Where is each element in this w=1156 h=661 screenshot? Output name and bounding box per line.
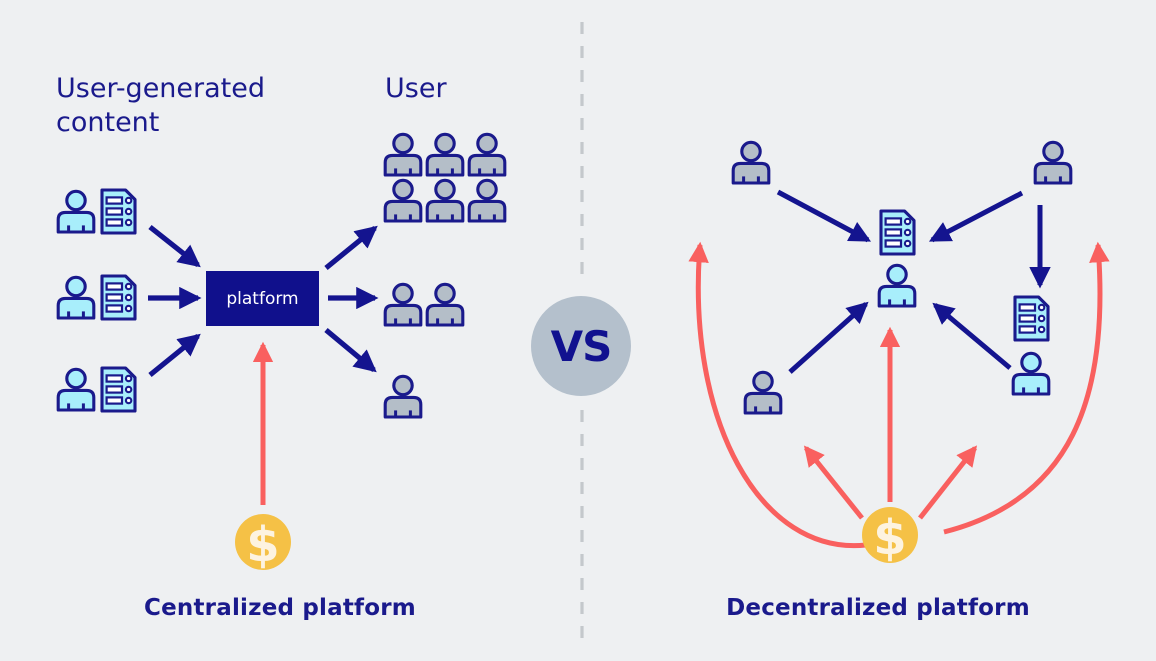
arrow-platform-to-cluster-top [326,228,375,268]
user-doc-pair-3 [58,368,135,411]
arrow-topleft-to-doc [778,192,868,240]
user-cluster-bottom [385,376,421,417]
person-icon [469,134,505,175]
person-icon [58,369,94,410]
person-icon [469,180,505,221]
platform-box[interactable]: platform [206,271,319,326]
person-icon [58,277,94,318]
person-icon [427,134,463,175]
arrow-source1-to-platform [150,227,198,265]
peer-doc-right [1015,297,1048,340]
label-centralized-platform: Centralized platform [0,595,560,621]
left-source-group [58,190,135,411]
person-icon [427,180,463,221]
document-icon [102,276,135,319]
person-icon [385,284,421,325]
peer-doc-center [881,211,914,254]
person-icon [427,284,463,325]
arrow-topright-to-doc [932,193,1022,240]
arrow-personright-to-center [935,305,1010,368]
user-doc-pair-1 [58,190,135,233]
arrow-money-curve-left [698,245,866,546]
peer-gray-bottom-left [745,372,781,413]
left-outbound-arrows [326,228,375,370]
label-decentralized-platform: Decentralized platform [600,595,1156,621]
arrow-bottomleft-to-center [790,304,866,372]
dollar-coin-right: $ [862,507,918,566]
arrow-money-to-lower-left [806,448,862,518]
dollar-coin-left: $ [235,514,291,573]
arrow-money-to-lower-right [920,448,975,518]
document-icon [102,190,135,233]
person-icon [385,376,421,417]
arrow-platform-to-cluster-bottom [326,330,374,370]
document-icon [102,368,135,411]
label-user: User [385,72,447,106]
user-cluster-top [385,134,505,221]
user-cluster-middle [385,284,463,325]
vs-label: VS [551,322,612,371]
platform-label: platform [226,289,298,309]
peer-person-right [1013,353,1049,394]
peer-gray-top-right [1035,142,1071,183]
diagram-canvas: $ $ [0,0,1156,661]
coin-glyph: $ [246,517,279,573]
coin-glyph: $ [873,510,906,566]
user-doc-pair-2 [58,276,135,319]
label-user-generated-content: User-generated content [56,72,265,140]
left-inbound-arrows [148,227,198,375]
arrow-source3-to-platform [150,336,198,375]
person-icon [58,191,94,232]
peer-person-center [879,265,915,306]
right-peer-nodes [733,142,1071,413]
peer-gray-top-left [733,142,769,183]
person-icon [385,134,421,175]
person-icon [385,180,421,221]
vs-badge: VS [531,296,631,396]
